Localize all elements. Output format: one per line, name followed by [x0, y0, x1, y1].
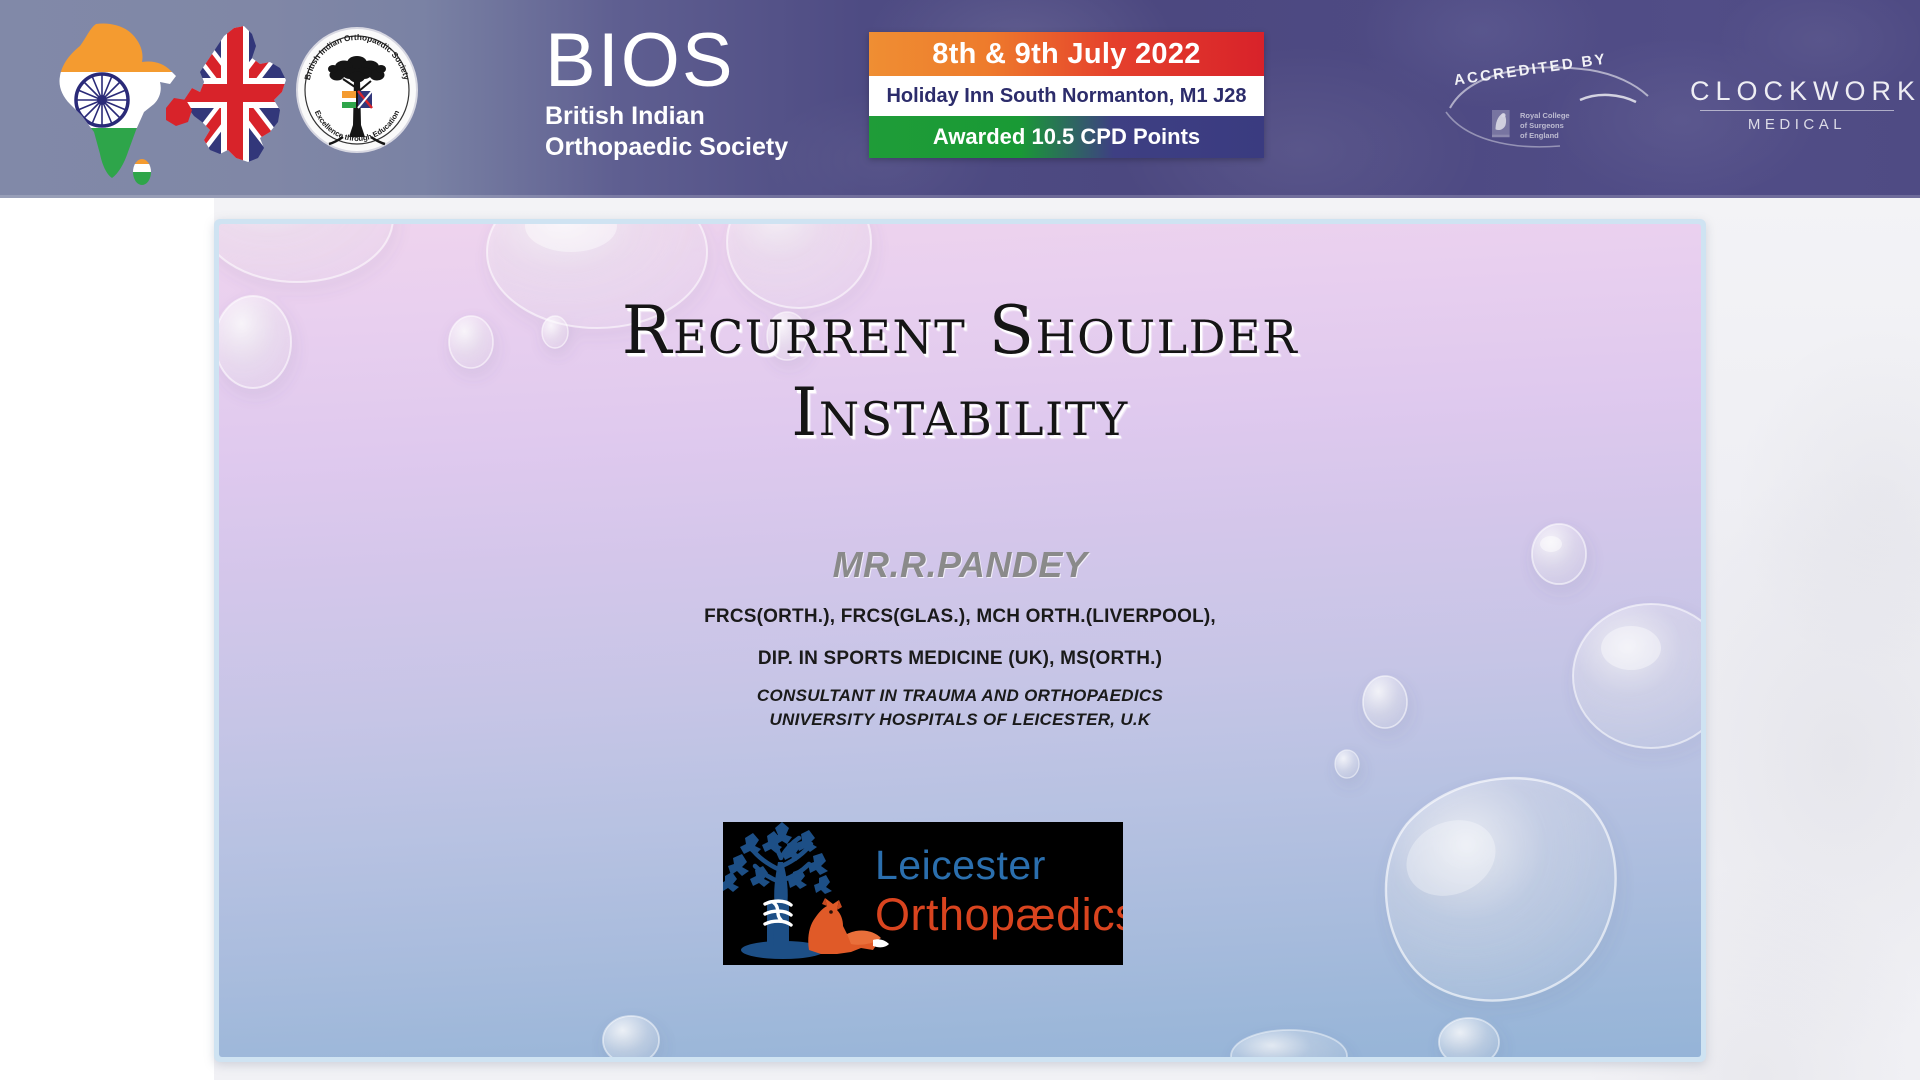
presenter-affiliation: CONSULTANT IN TRAUMA AND ORTHOPAEDICS UN…	[219, 684, 1701, 732]
presenter-name: MR.R.PANDEY	[219, 544, 1701, 586]
leicester-logo-line1: Leicester	[875, 842, 1123, 888]
leicester-logo-text: Leicester Orthopædics	[875, 842, 1123, 940]
conference-header-banner: British Indian Orthopaedic Society Excel…	[0, 0, 1920, 198]
sponsor-logo-clockwork-medical: CLOCKWORK MEDICAL	[1690, 76, 1904, 133]
accreditation-mark: ACCREDITED BY Royal College of Surgeons …	[1440, 62, 1660, 152]
rcs-line1: Royal College	[1520, 111, 1570, 120]
sponsor-divider-rule	[1700, 110, 1894, 111]
presentation-slide: Recurrent Shoulder Instability MR.R.PAND…	[219, 224, 1701, 1057]
leicester-orthopaedics-logo: Leicester Orthopædics	[723, 822, 1123, 965]
presenter-qualifications: FRCS(ORTH.), FRCS(GLAS.), MCH ORTH.(LIVE…	[219, 606, 1701, 690]
event-cpd-points: Awarded 10.5 CPD Points	[869, 116, 1264, 158]
bios-abbrev-text: BIOS	[545, 22, 788, 100]
event-dates: 8th & 9th July 2022	[869, 32, 1264, 76]
qualification-line: FRCS(ORTH.), FRCS(GLAS.), MCH ORTH.(LIVE…	[219, 606, 1701, 628]
affiliation-line: CONSULTANT IN TRAUMA AND ORTHOPAEDICS	[219, 684, 1701, 708]
bios-society-emblem-icon: British Indian Orthopaedic Society Excel…	[293, 25, 421, 155]
affiliation-line: UNIVERSITY HOSPITALS OF LEICESTER, U.K	[219, 708, 1701, 732]
qualification-line: DIP. IN SPORTS MEDICINE (UK), MS(ORTH.)	[219, 648, 1701, 670]
rcs-line2: of Surgeons	[1520, 121, 1564, 130]
sponsor-name-text: CLOCKWORK	[1690, 76, 1904, 106]
leicester-logo-line2: Orthopædics	[875, 890, 1123, 940]
presentation-screenshot: British Indian Orthopaedic Society Excel…	[0, 0, 1920, 1080]
bios-fullname-line1: British Indian	[545, 102, 788, 131]
presentation-slide-frame: Recurrent Shoulder Instability MR.R.PAND…	[214, 219, 1706, 1062]
slide-title: Recurrent Shoulder Instability	[219, 290, 1701, 454]
bios-fullname-line2: Orthopaedic Society	[545, 133, 788, 162]
sponsor-subtitle-text: MEDICAL	[1690, 116, 1904, 133]
event-venue: Holiday Inn South Normanton, M1 J28	[869, 76, 1264, 116]
india-uk-flag-maps-icon	[24, 12, 324, 187]
bios-wordmark: BIOS British Indian Orthopaedic Society	[545, 22, 788, 162]
rcs-line3: of England	[1520, 131, 1559, 140]
header-bottom-edge	[0, 195, 1920, 198]
event-info-box: 8th & 9th July 2022 Holiday Inn South No…	[869, 32, 1264, 158]
document-page-left-margin	[0, 198, 214, 1080]
